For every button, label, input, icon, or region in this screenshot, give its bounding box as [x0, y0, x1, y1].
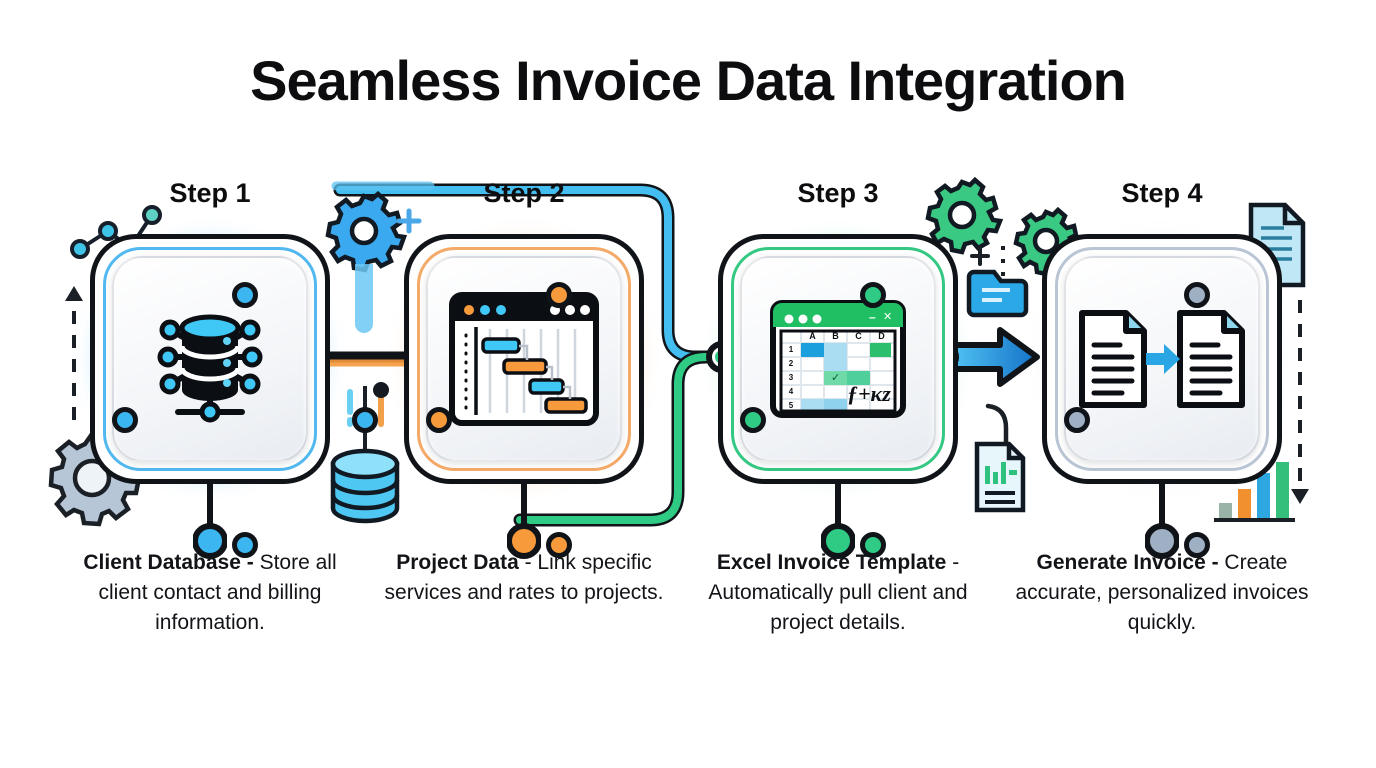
node-top-1 [232, 282, 258, 308]
node-left-4 [1064, 407, 1090, 433]
curved-hook-line [988, 406, 1006, 442]
caption-2: Project Data - Link specific services an… [374, 548, 674, 608]
spreadsheet-col-headers: A B C D [801, 331, 893, 343]
step-inner-4 [1064, 256, 1260, 462]
caption-4: Generate Invoice - Create accurate, pers… [1012, 548, 1312, 638]
col-c: C [847, 331, 870, 343]
col-b: B [824, 331, 847, 343]
col-a: A [801, 331, 824, 343]
caption-3-title: Excel Invoice Template [717, 551, 947, 574]
close-icon[interactable]: ✕ [883, 310, 892, 323]
step-label-2: Step 2 [374, 178, 674, 209]
step-frame-3: A B C D 1 2 3 4 5 ✓ – ✕ [718, 234, 958, 484]
node-top-3 [860, 282, 886, 308]
node-left-2 [426, 407, 452, 433]
row-3: 3 [781, 371, 801, 385]
step-frame-2 [404, 234, 644, 484]
row-4: 4 [781, 385, 801, 399]
row-5: 5 [781, 399, 801, 413]
infographic-canvas: Seamless Invoice Data Integration [0, 0, 1376, 768]
step-inner-1 [112, 256, 308, 462]
step-label-1: Step 1 [60, 178, 360, 209]
formula-label: ƒ+κz [847, 381, 891, 407]
caption-2-title: Project Data [396, 551, 519, 574]
spreadsheet-row-headers: 1 2 3 4 5 [781, 343, 801, 411]
spreadsheet-window-icon: A B C D 1 2 3 4 5 ✓ – ✕ [769, 299, 907, 419]
step-inner-3: A B C D 1 2 3 4 5 ✓ – ✕ [740, 256, 936, 462]
node-left-3 [740, 407, 766, 433]
database-network-icon [130, 284, 290, 434]
step-card-3[interactable]: Step 3 [688, 178, 988, 538]
step-label-4: Step 4 [1012, 178, 1312, 209]
step-inner-2 [426, 256, 622, 462]
node-top-4 [1184, 282, 1210, 308]
gantt-chart-window-icon [446, 289, 602, 429]
cell-check-icon: ✓ [831, 371, 840, 384]
node-top-2 [546, 282, 572, 308]
step-frame-4 [1042, 234, 1282, 484]
row-1: 1 [781, 343, 801, 357]
minimize-icon[interactable]: – [869, 310, 876, 324]
col-d: D [870, 331, 893, 343]
document-transform-icon [1074, 307, 1250, 411]
step-card-4[interactable]: Step 4 [1012, 178, 1312, 538]
row-2: 2 [781, 357, 801, 371]
node-left-1 [112, 407, 138, 433]
caption-1: Client Database - Store all client conta… [60, 548, 360, 638]
step-label-3: Step 3 [688, 178, 988, 209]
caption-3: Excel Invoice Template - Automatically p… [688, 548, 988, 638]
caption-1-title: Client Database - [83, 551, 253, 574]
step-frame-1 [90, 234, 330, 484]
step-card-1[interactable]: Step 1 [60, 178, 360, 538]
caption-4-title: Generate Invoice - [1037, 551, 1219, 574]
step-card-2[interactable]: Step 2 [374, 178, 674, 538]
